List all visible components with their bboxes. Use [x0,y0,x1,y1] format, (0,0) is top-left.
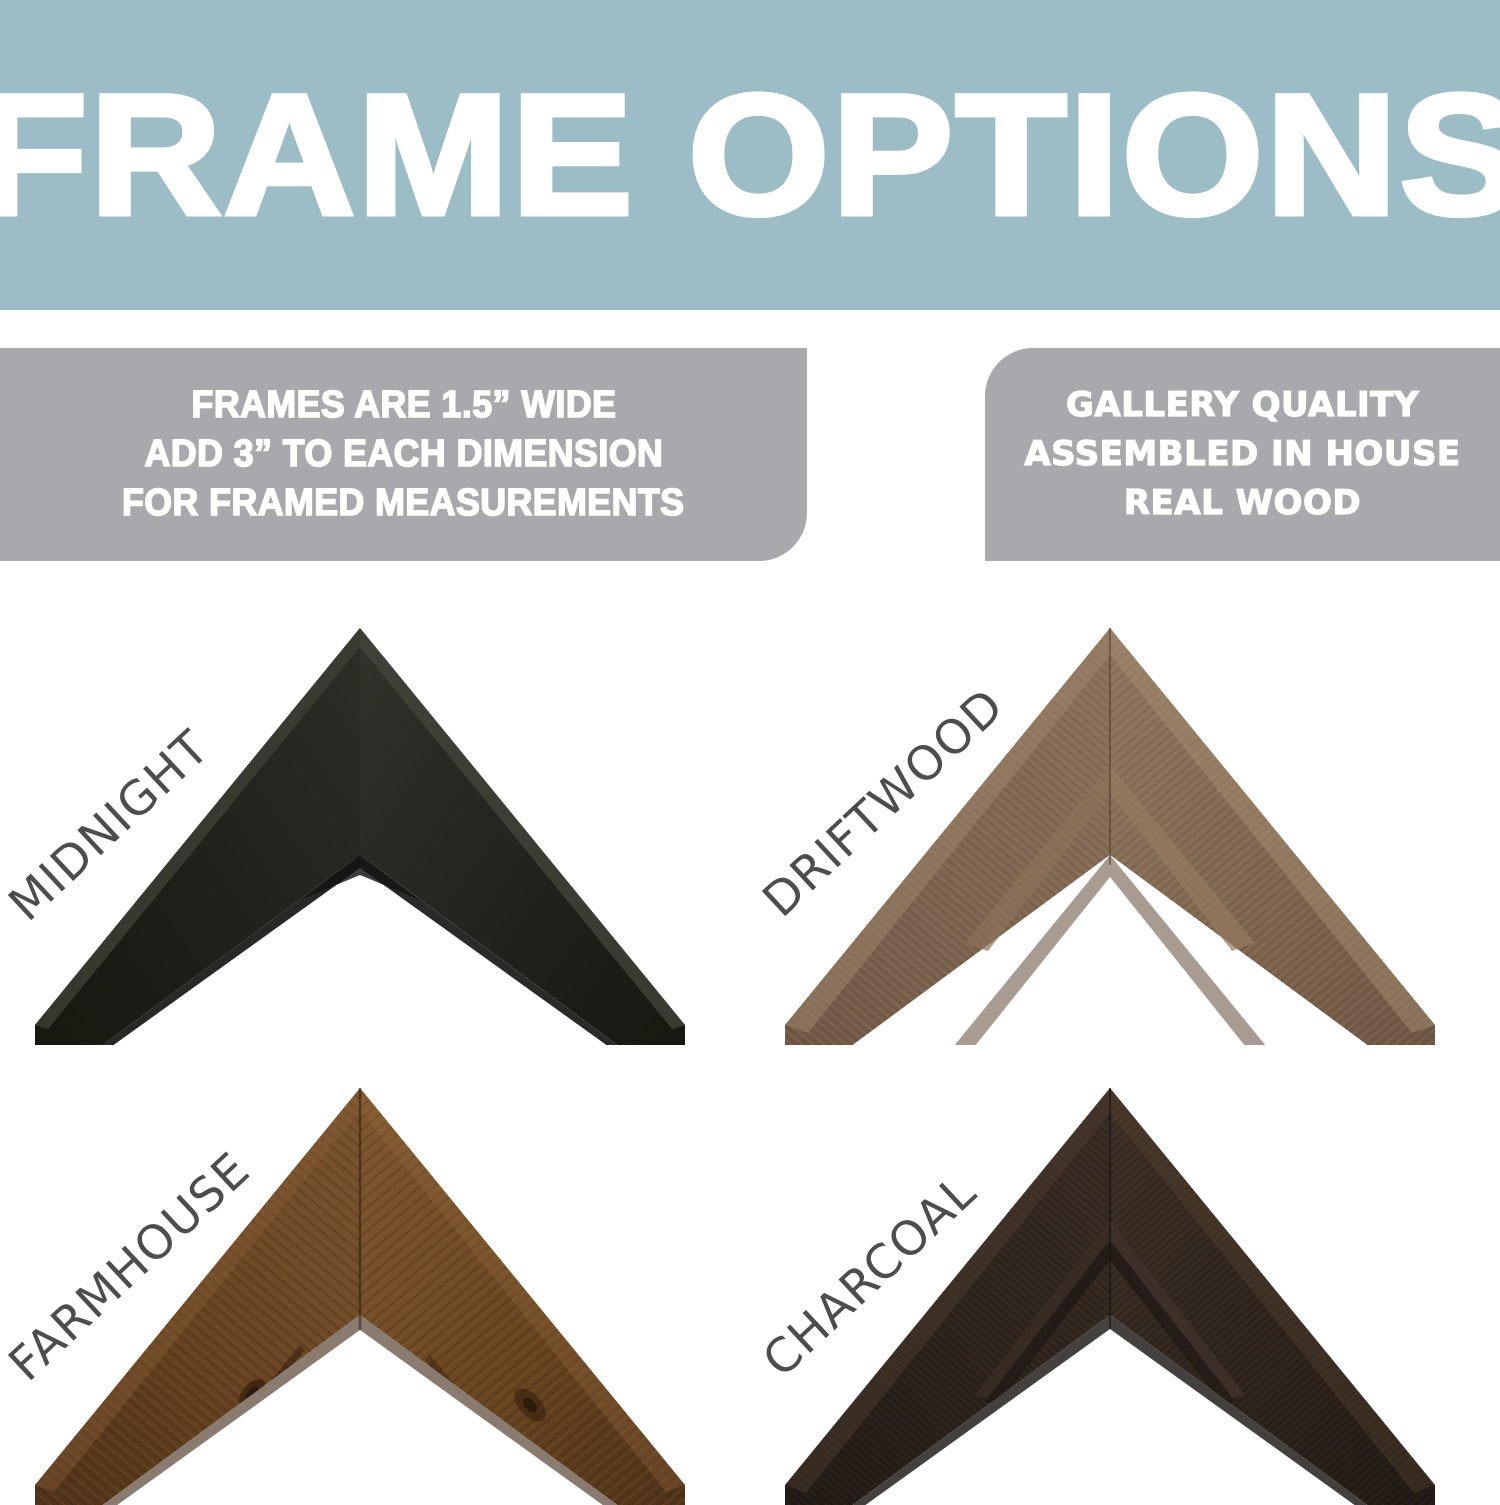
quality-info-box: GALLERY QUALITY ASSEMBLED IN HOUSE REAL … [985,348,1500,561]
info-line: ASSEMBLED IN HOUSE [1024,430,1460,479]
frame-option-farmhouse[interactable]: FARMHOUSE [0,1045,750,1505]
info-line: FRAMES ARE 1.5” WIDE [191,381,616,430]
frame-option-charcoal[interactable]: CHARCOAL [750,1045,1500,1505]
frame-options-grid: MIDNIGHT [0,585,1500,1500]
header-banner: FRAME OPTIONS [0,0,1500,310]
frame-corner-charcoal [750,1045,1500,1505]
page-title: FRAME OPTIONS [0,69,1500,241]
frame-option-midnight[interactable]: MIDNIGHT [0,585,750,1045]
info-line: ADD 3” TO EACH DIMENSION [144,430,663,479]
frame-corner-farmhouse [0,1045,750,1505]
info-line: GALLERY QUALITY [1066,381,1419,430]
frame-corner-driftwood [750,585,1500,1045]
frame-option-driftwood[interactable]: DRIFTWOOD [750,585,1500,1045]
frame-size-info-box: FRAMES ARE 1.5” WIDE ADD 3” TO EACH DIME… [0,348,807,561]
info-line: REAL WOOD [1124,479,1361,528]
info-line: FOR FRAMED MEASUREMENTS [122,479,684,528]
frame-corner-midnight [0,585,750,1045]
